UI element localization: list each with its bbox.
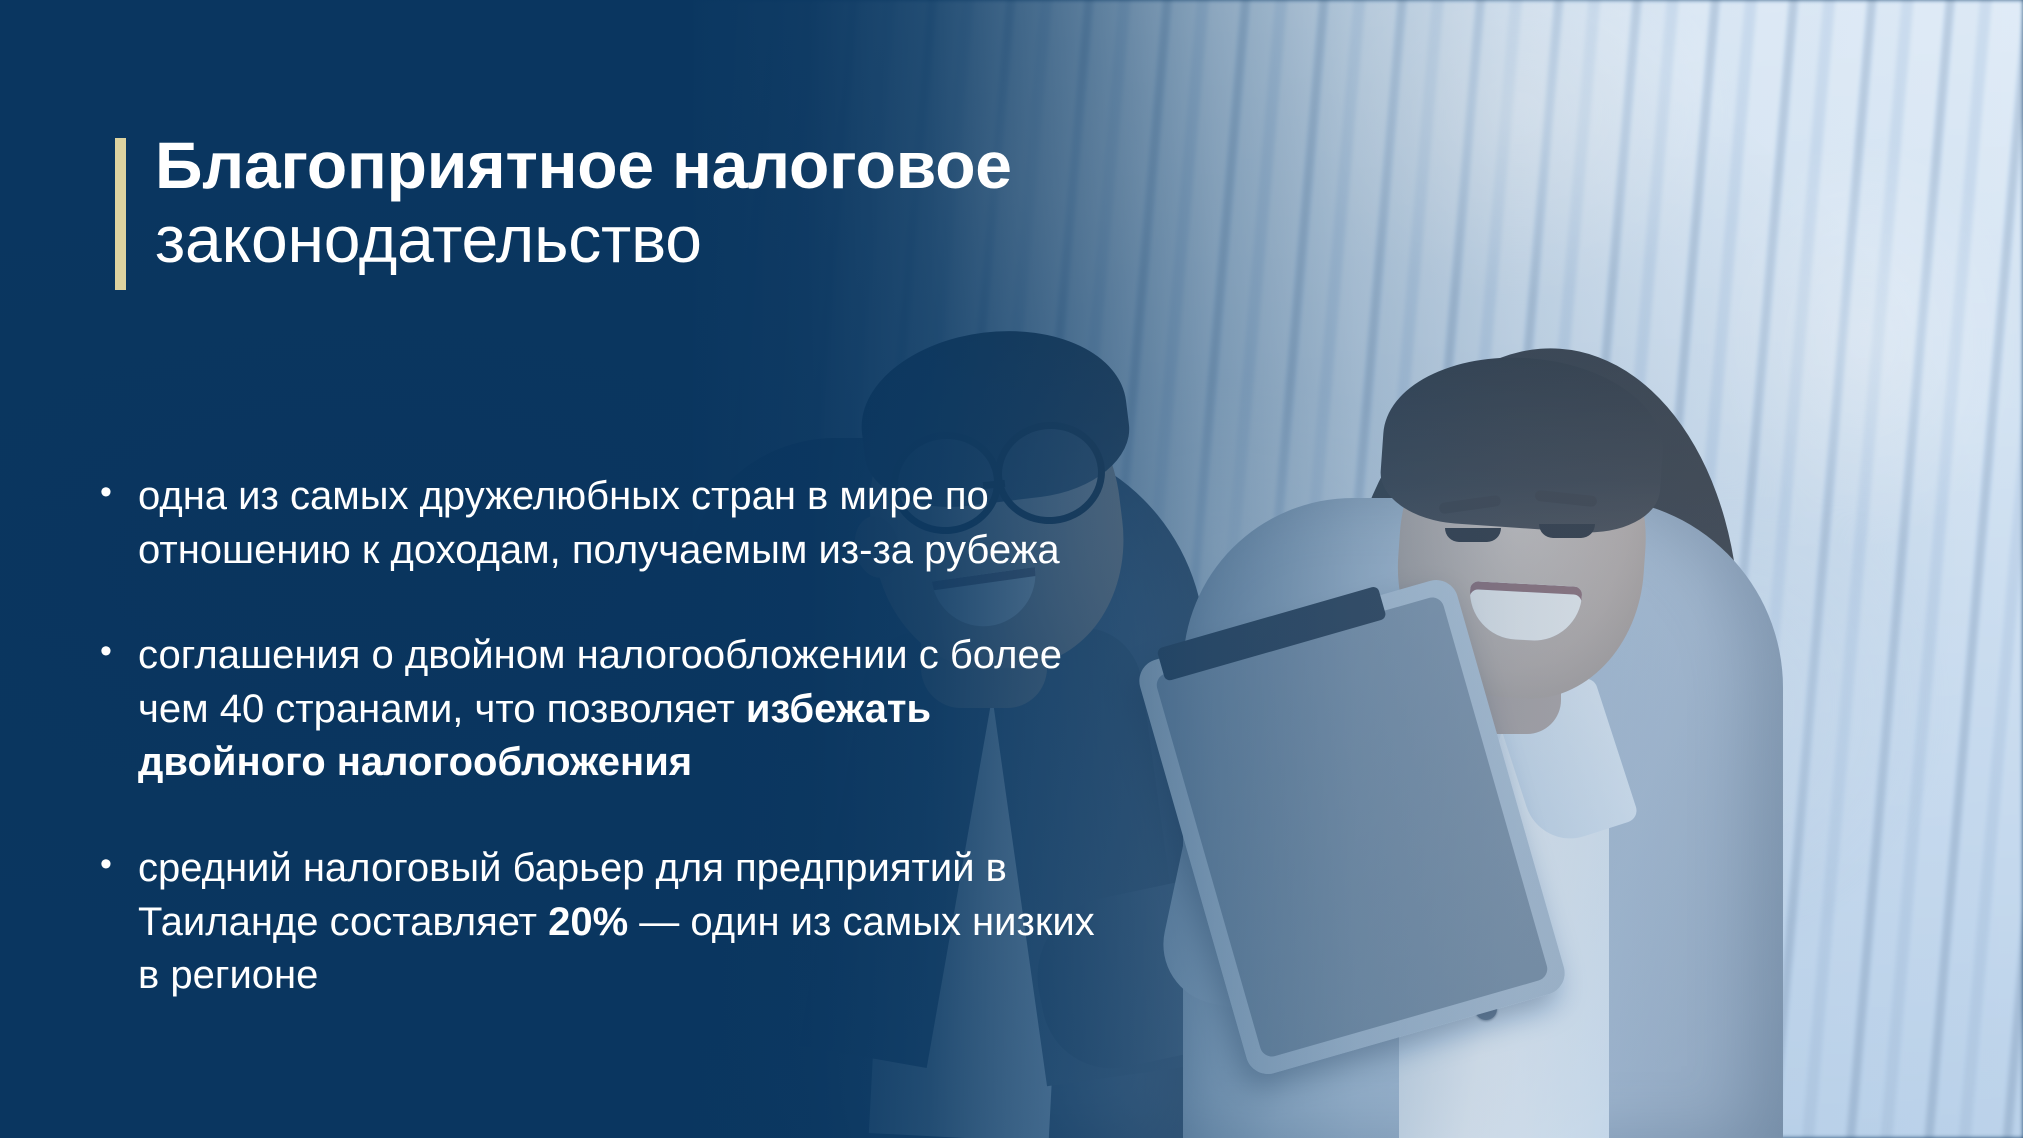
title-line-2: законодательство (155, 203, 1255, 277)
bullet-list: •одна из самых дружелюбных стран в мире … (96, 470, 1106, 1003)
bullet-item: •средний налоговый барьер для предприяти… (96, 842, 1106, 1003)
slide-title: Благоприятное налоговое законодательство (155, 129, 1255, 277)
bullet-marker-icon: • (96, 470, 138, 516)
bullet-text: средний налоговый барьер для предприятий… (138, 842, 1106, 1003)
title-accent-bar (115, 138, 126, 290)
presentation-slide: Благоприятное налоговое законодательство… (0, 0, 2023, 1138)
bullet-marker-icon: • (96, 842, 138, 888)
slide-content: Благоприятное налоговое законодательство… (0, 0, 2023, 1138)
bullet-item: •одна из самых дружелюбных стран в мире … (96, 470, 1106, 577)
bullet-text: одна из самых дружелюбных стран в мире п… (138, 470, 1106, 577)
bullet-item: •соглашения о двойном налогообложении с … (96, 629, 1106, 790)
bullet-text-run: одна из самых дружелюбных стран в мире п… (138, 474, 1060, 572)
bullet-text-emphasis: 20% (548, 900, 628, 944)
bullet-text: соглашения о двойном налогообложении с б… (138, 629, 1106, 790)
title-line-1: Благоприятное налоговое (155, 129, 1255, 203)
bullet-marker-icon: • (96, 629, 138, 675)
